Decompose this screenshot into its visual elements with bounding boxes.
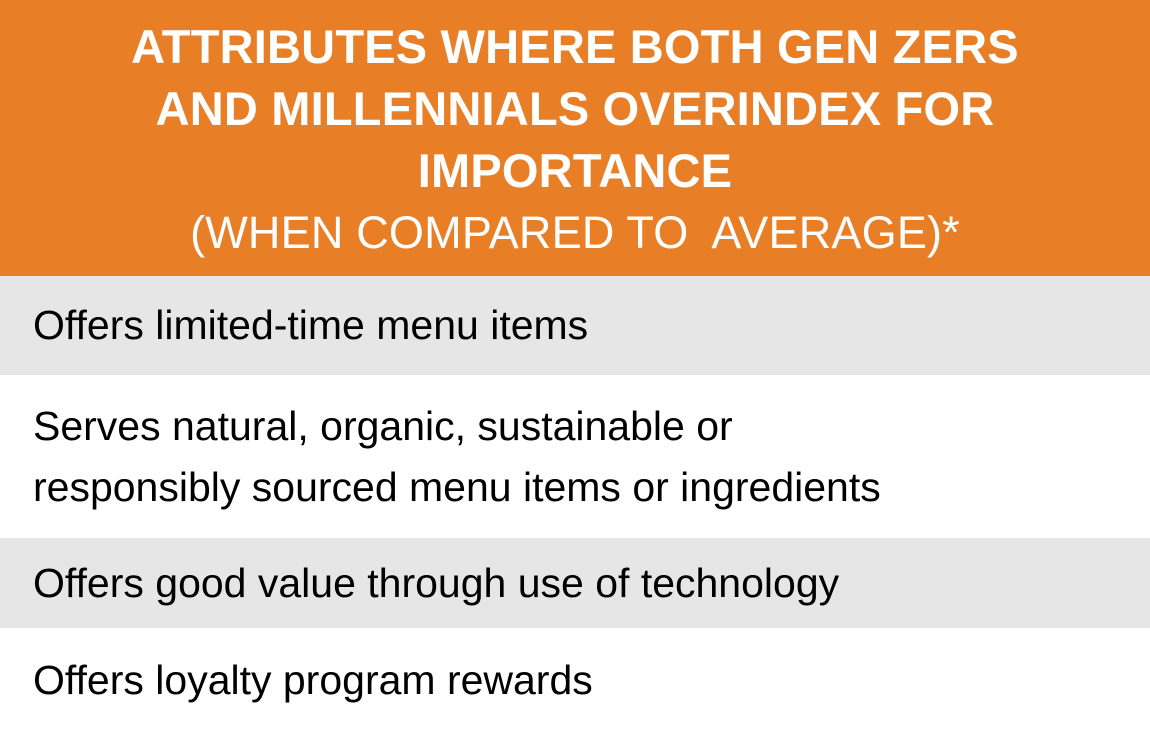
attribute-row-1-text: Offers limited-time menu items xyxy=(33,295,588,356)
header-banner: ATTRIBUTES WHERE BOTH GEN ZERS AND MILLE… xyxy=(0,0,1150,276)
attribute-row-4-line-1: Offers loyalty program rewards xyxy=(33,657,593,703)
attribute-row-4: Offers loyalty program rewards xyxy=(0,628,1150,733)
attribute-row-1-line-1: Offers limited-time menu items xyxy=(33,302,588,348)
attribute-row-3-line-1: Offers good value through use of technol… xyxy=(33,560,839,606)
attribute-row-4-text: Offers loyalty program rewards xyxy=(33,650,593,711)
header-subtitle-line: (WHEN COMPARED TO AVERAGE)* xyxy=(0,202,1150,264)
slide-root: ATTRIBUTES WHERE BOTH GEN ZERS AND MILLE… xyxy=(0,0,1150,733)
attribute-row-2-text: Serves natural, organic, sustainable or … xyxy=(33,396,881,518)
attribute-list: Offers limited-time menu items Serves na… xyxy=(0,276,1150,733)
attribute-row-2-line-2: responsibly sourced menu items or ingred… xyxy=(33,464,881,510)
attribute-row-2-line-1: Serves natural, organic, sustainable or xyxy=(33,403,733,449)
attribute-row-2: Serves natural, organic, sustainable or … xyxy=(0,375,1150,538)
attribute-row-3-text: Offers good value through use of technol… xyxy=(33,553,839,614)
header-title-line-1: ATTRIBUTES WHERE BOTH GEN ZERS xyxy=(0,16,1150,78)
attribute-row-1: Offers limited-time menu items xyxy=(0,276,1150,375)
header-title-line-3: IMPORTANCE xyxy=(0,140,1150,202)
attribute-row-3: Offers good value through use of technol… xyxy=(0,538,1150,628)
header-title-line-2: AND MILLENNIALS OVERINDEX FOR xyxy=(0,78,1150,140)
